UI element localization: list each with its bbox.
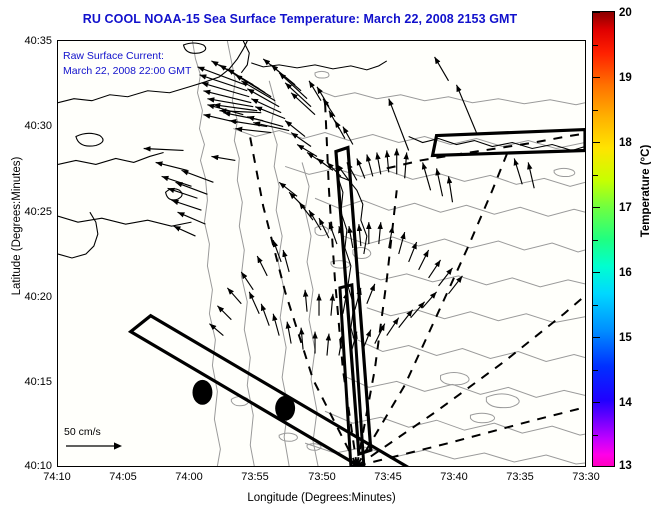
y-axis-label: Latitude (Degrees:Minutes) (11, 116, 23, 336)
xtick-label: 73:55 (241, 471, 269, 483)
ytick-label: 40:10 (8, 460, 52, 472)
scale-bar: 50 cm/s (64, 426, 159, 452)
colorbar-tick-label: 13 (619, 460, 632, 472)
colorbar-tick-label: 17 (619, 202, 632, 214)
colorbar-tick-label: 15 (619, 332, 632, 344)
xtick-label: 73:40 (440, 471, 468, 483)
ytick-label: 40:15 (8, 376, 52, 388)
radial-dashed-lines (249, 101, 585, 466)
figure-title: RU COOL NOAA-15 Sea Surface Temperature:… (0, 12, 600, 26)
xtick-label: 73:45 (374, 471, 402, 483)
station-marker (192, 380, 212, 405)
right-arrow-icon (64, 440, 124, 452)
station-markers (192, 380, 295, 421)
map-plot-area: Raw Surface Current: March 22, 2008 22:0… (57, 40, 586, 467)
colorbar-tick-label: 19 (619, 72, 632, 84)
colorbar-tick-label: 20 (619, 7, 632, 19)
coastline (58, 41, 585, 350)
xtick-label: 73:50 (308, 471, 336, 483)
xtick-label: 73:35 (506, 471, 534, 483)
map-graphics (58, 41, 585, 466)
x-axis-label: Longitude (Degrees:Minutes) (57, 492, 586, 504)
xtick-label: 74:00 (175, 471, 203, 483)
xtick-label: 74:10 (43, 471, 71, 483)
xtick-label: 73:30 (572, 471, 600, 483)
colorbar-tick-label: 16 (619, 267, 632, 279)
station-marker (275, 396, 295, 421)
scale-bar-label: 50 cm/s (64, 426, 159, 438)
xtick-label: 74:05 (109, 471, 137, 483)
colorbar-tick-label: 14 (619, 397, 632, 409)
colorbar-tick-label: 18 (619, 137, 632, 149)
colorbar (592, 11, 615, 467)
colorbar-title: Temperature (°C) (640, 111, 651, 271)
sst-map-figure: RU COOL NOAA-15 Sea Surface Temperature:… (0, 0, 651, 518)
ytick-label: 40:35 (8, 35, 52, 47)
